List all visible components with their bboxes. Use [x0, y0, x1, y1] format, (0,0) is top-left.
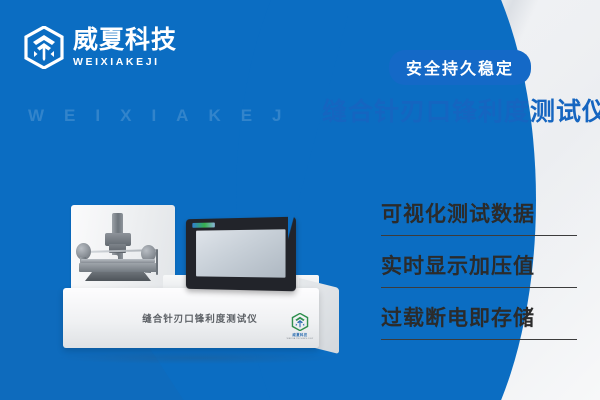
feature-label: 可视化测试数据: [381, 198, 577, 228]
feature-item: 过载断电即存储: [381, 302, 577, 340]
screen-brand-tag: [192, 223, 214, 228]
feature-item: 可视化测试数据: [381, 198, 577, 236]
brand-logo-text: 威夏科技 WEIXIAKEJI: [73, 27, 177, 68]
hmi-touchscreen-icon: [186, 217, 296, 292]
fixture-cord: [156, 249, 158, 275]
feature-label: 实时显示加压值: [381, 250, 577, 280]
tagline-badge: 安全持久稳定: [389, 50, 531, 85]
brand-watermark: WEIXIAKEJI: [28, 106, 326, 126]
brand-name-en: WEIXIAKEJI: [73, 57, 177, 68]
hexagon-emblem-icon: [24, 26, 64, 69]
fixture-plate: [79, 263, 157, 272]
product-title: 缝合针刃口锋利度测试仪: [322, 92, 600, 128]
background-blue-edge: [288, 0, 348, 400]
feature-item: 实时显示加压值: [381, 250, 577, 288]
device-base-label: 缝合针刃口锋利度测试仪: [105, 311, 295, 325]
fixture-stage: [85, 272, 151, 281]
feature-label: 过载断电即存储: [381, 302, 577, 332]
brand-name-cn: 威夏科技: [73, 27, 177, 52]
product-banner: WEIXIAKEJI 威夏科技 WEIXIAKEJI 安全持久稳定 缝合针刃口锋…: [0, 0, 600, 400]
brand-logo: 威夏科技 WEIXIAKEJI: [24, 26, 177, 69]
feature-list: 可视化测试数据 实时显示加压值 过载断电即存储: [381, 198, 577, 340]
screen-display: [196, 229, 285, 277]
